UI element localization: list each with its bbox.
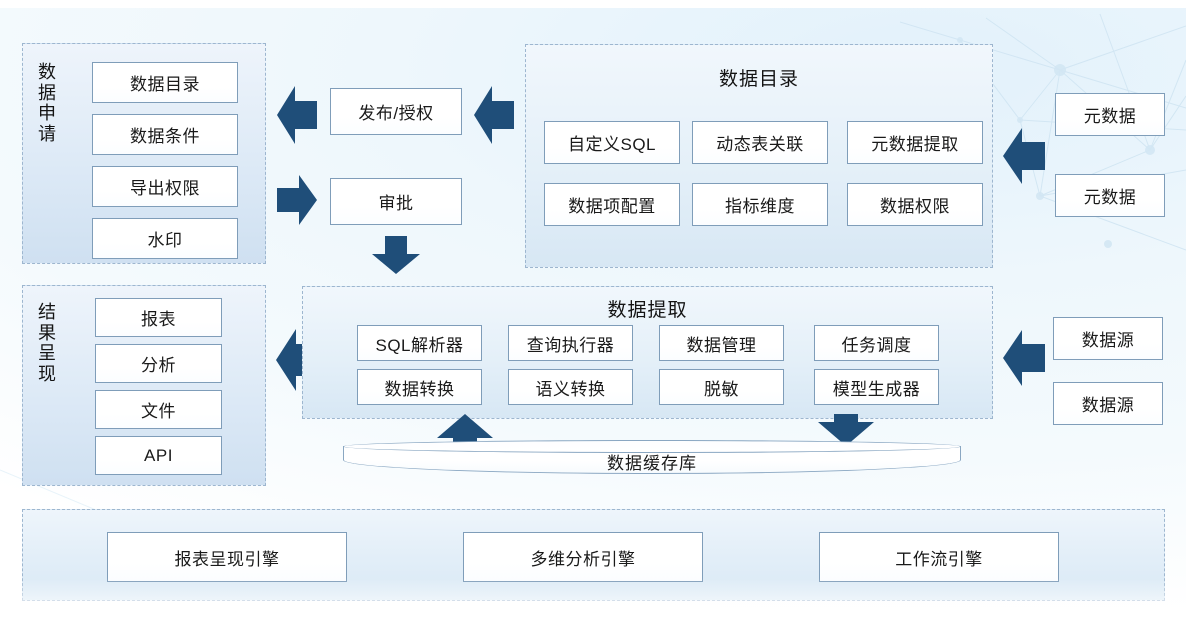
result-presentation-group-label: 结果呈现 [34, 302, 60, 385]
data-extraction-item-query-executor[interactable]: 查询执行器 [508, 325, 633, 361]
data-extraction-item-data-transform[interactable]: 数据转换 [357, 369, 482, 405]
data-request-item-catalog[interactable]: 数据目录 [92, 62, 238, 103]
data-cache-store[interactable]: 数据缓存库 [343, 440, 961, 476]
data-catalog-item-data-item-config[interactable]: 数据项配置 [544, 183, 680, 226]
data-extraction-item-semantic-transform[interactable]: 语义转换 [508, 369, 633, 405]
result-item-api[interactable]: API [95, 436, 222, 475]
metadata-source-2[interactable]: 元数据 [1055, 174, 1165, 217]
data-request-item-watermark[interactable]: 水印 [92, 218, 238, 259]
metadata-source-1[interactable]: 元数据 [1055, 93, 1165, 136]
data-extraction-item-model-generator[interactable]: 模型生成器 [814, 369, 939, 405]
data-catalog-item-dynamic-table-join[interactable]: 动态表关联 [692, 121, 828, 164]
data-request-item-export-permission[interactable]: 导出权限 [92, 166, 238, 207]
data-catalog-item-custom-sql[interactable]: 自定义SQL [544, 121, 680, 164]
publish-left-arrow [277, 86, 317, 144]
approve-down-arrow [372, 236, 420, 274]
data-request-group-label: 数据申请 [34, 62, 60, 145]
data-extraction-item-data-management[interactable]: 数据管理 [659, 325, 784, 361]
approve-left-arrow [277, 175, 317, 225]
data-catalog-item-metadata-extract[interactable]: 元数据提取 [847, 121, 983, 164]
data-request-item-condition[interactable]: 数据条件 [92, 114, 238, 155]
engine-report-rendering[interactable]: 报表呈现引擎 [107, 532, 347, 582]
data-catalog-panel-title: 数据目录 [525, 64, 993, 91]
result-item-analysis[interactable]: 分析 [95, 344, 222, 383]
result-item-file[interactable]: 文件 [95, 390, 222, 429]
data-source-2[interactable]: 数据源 [1053, 382, 1163, 425]
engine-multidimensional-analysis[interactable]: 多维分析引擎 [463, 532, 703, 582]
data-source-1[interactable]: 数据源 [1053, 317, 1163, 360]
data-catalog-item-metric-dimension[interactable]: 指标维度 [692, 183, 828, 226]
data-extraction-item-sql-parser[interactable]: SQL解析器 [357, 325, 482, 361]
data-extraction-panel-title: 数据提取 [302, 295, 993, 322]
data-catalog-item-data-permission[interactable]: 数据权限 [847, 183, 983, 226]
architecture-diagram: 数据申请 数据目录 数据条件 导出权限 水印 发布/授权 审批 数据目录 自定义… [0, 0, 1186, 630]
metadata-in-arrow [1003, 128, 1045, 184]
result-item-report[interactable]: 报表 [95, 298, 222, 337]
data-cache-store-label: 数据缓存库 [343, 446, 961, 476]
publish-authorize-box[interactable]: 发布/授权 [330, 88, 462, 135]
publish-right-arrow [474, 86, 514, 144]
datasource-in-arrow [1003, 330, 1045, 386]
background-bottom-fade [0, 578, 1186, 630]
data-extraction-item-task-scheduling[interactable]: 任务调度 [814, 325, 939, 361]
data-extraction-item-desensitization[interactable]: 脱敏 [659, 369, 784, 405]
engine-workflow[interactable]: 工作流引擎 [819, 532, 1059, 582]
approve-box[interactable]: 审批 [330, 178, 462, 225]
